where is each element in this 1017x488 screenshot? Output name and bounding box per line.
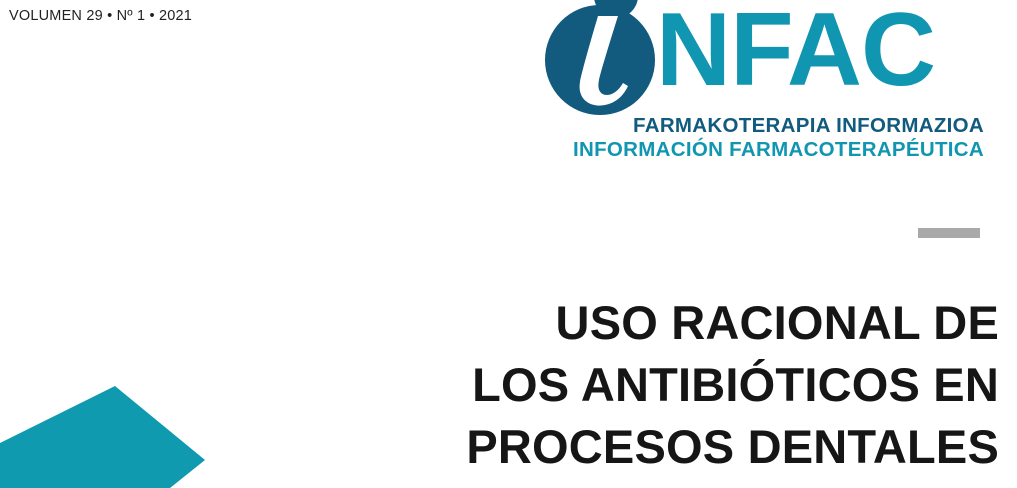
infac-wordmark: NFAC xyxy=(656,0,935,102)
grey-divider-rule xyxy=(918,228,980,238)
page-title: USO RACIONAL DE LOS ANTIBIÓTICOS EN PROC… xyxy=(359,292,999,478)
volume-issue-year: VOLUMEN 29 • Nº 1 • 2021 xyxy=(9,8,192,24)
logo-lockup: NFAC xyxy=(530,0,1000,118)
subtitle-spanish: INFORMACIÓN FARMACOTERAPÉUTICA xyxy=(530,138,1000,162)
infac-i-circle-icon xyxy=(540,0,664,118)
infac-bulletin-cover: VOLUMEN 29 • Nº 1 • 2021 NFAC FARMAKOTER… xyxy=(0,0,1017,488)
page-title-line-1: USO RACIONAL DE xyxy=(359,292,999,354)
infac-masthead: NFAC FARMAKOTERAPIA INFORMAZIOA INFORMAC… xyxy=(530,0,1000,171)
subtitle-basque: FARMAKOTERAPIA INFORMAZIOA xyxy=(530,114,1000,138)
page-title-line-2: LOS ANTIBIÓTICOS EN xyxy=(359,354,999,416)
page-title-line-3: PROCESOS DENTALES xyxy=(359,416,999,478)
teal-triangle-decoration xyxy=(0,378,230,488)
